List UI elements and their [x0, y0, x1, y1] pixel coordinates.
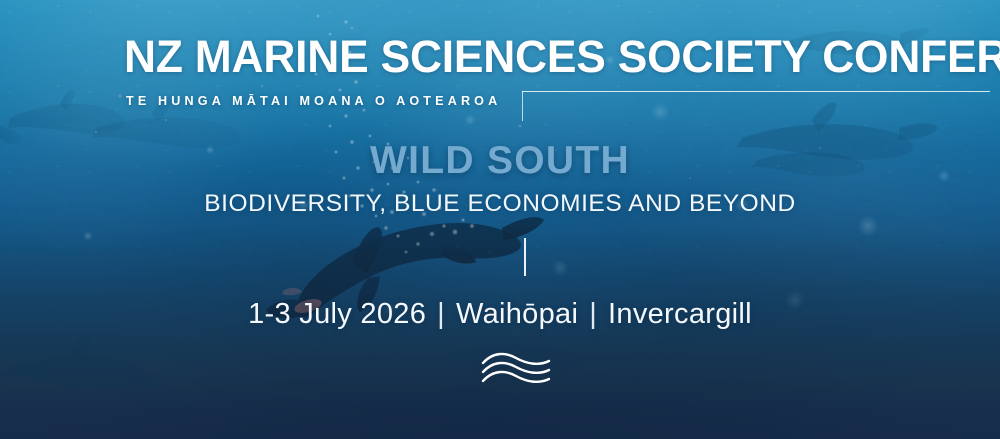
event-dates: 1-3 July 2026	[248, 298, 426, 330]
page-title: NZ MARINE SCIENCES SOCIETY CONFERENCE	[124, 34, 1000, 80]
theme-tagline: BIODIVERSITY, BLUE ECONOMIES AND BEYOND	[0, 190, 1000, 218]
event-details: 1-3 July 2026|Waihōpai|Invercargill	[0, 297, 1000, 331]
conference-banner: NZ MARINE SCIENCES SOCIETY CONFERENCE TE…	[0, 0, 1000, 439]
banner-content: NZ MARINE SCIENCES SOCIETY CONFERENCE TE…	[0, 0, 1000, 439]
conference-subtitle-maori: TE HUNGA MĀTAI MOANA O AOTEAROA	[126, 94, 1000, 108]
event-venue: Waihōpai	[456, 298, 578, 330]
theme-block: WILD SOUTH BIODIVERSITY, BLUE ECONOMIES …	[0, 140, 1000, 218]
vertical-divider	[524, 238, 526, 276]
header-divider-rule	[522, 91, 990, 92]
wave-logo	[481, 350, 551, 386]
details-separator-2: |	[578, 297, 608, 331]
theme-heading: WILD SOUTH	[0, 140, 1000, 182]
title-block: NZ MARINE SCIENCES SOCIETY CONFERENCE TE…	[124, 34, 1000, 108]
event-city: Invercargill	[608, 298, 752, 330]
details-separator-1: |	[426, 297, 456, 331]
